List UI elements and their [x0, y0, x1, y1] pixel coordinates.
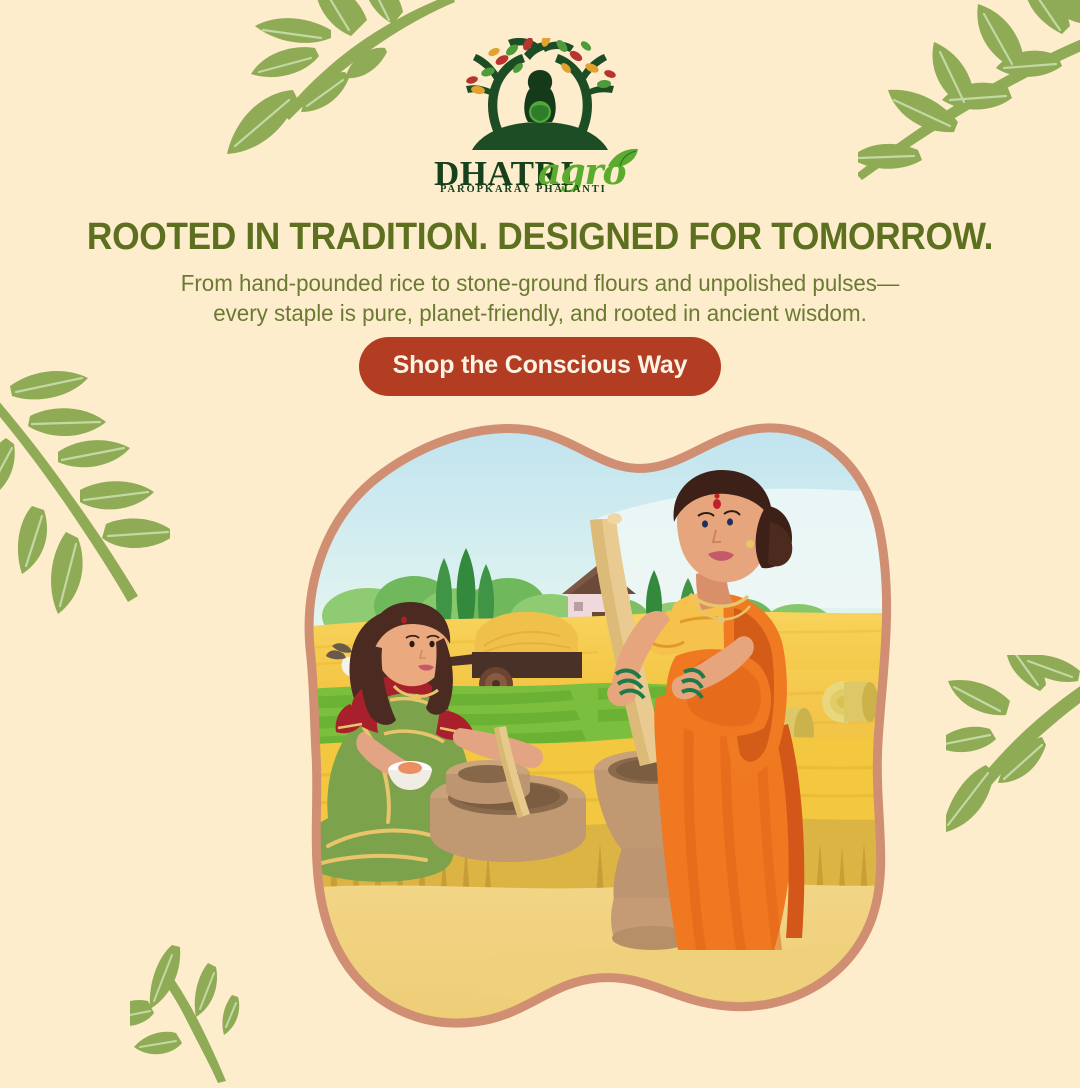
leaf-branch-top-right-icon	[858, 0, 1080, 195]
page-subheadline: From hand-pounded rice to stone-ground f…	[27, 268, 1053, 328]
tree-with-seated-woman-icon	[442, 38, 638, 158]
logo-leaf-icon	[606, 148, 640, 168]
hay-bale	[822, 681, 878, 723]
brand-logo[interactable]: DHATRI agro PAROPKARAY PHALANTI	[410, 38, 670, 196]
banner-canvas: DHATRI agro PAROPKARAY PHALANTI ROOTED I…	[0, 0, 1080, 1080]
logo-tagline: PAROPKARAY PHALANTI	[440, 184, 607, 195]
subheadline-line-2: every staple is pure, planet-friendly, a…	[27, 298, 1053, 328]
subheadline-line-1: From hand-pounded rice to stone-ground f…	[27, 268, 1053, 298]
leaf-branch-middle-right-icon	[946, 655, 1080, 850]
page-headline: ROOTED IN TRADITION. DESIGNED FOR TOMORR…	[38, 216, 1042, 259]
rural-scene-illustration	[178, 398, 902, 1058]
cta-row: Shop the Conscious Way	[0, 337, 1080, 396]
leaf-branch-middle-left-icon	[0, 368, 170, 663]
shop-the-conscious-way-button[interactable]: Shop the Conscious Way	[359, 337, 722, 396]
illustration-scene	[278, 408, 902, 1058]
